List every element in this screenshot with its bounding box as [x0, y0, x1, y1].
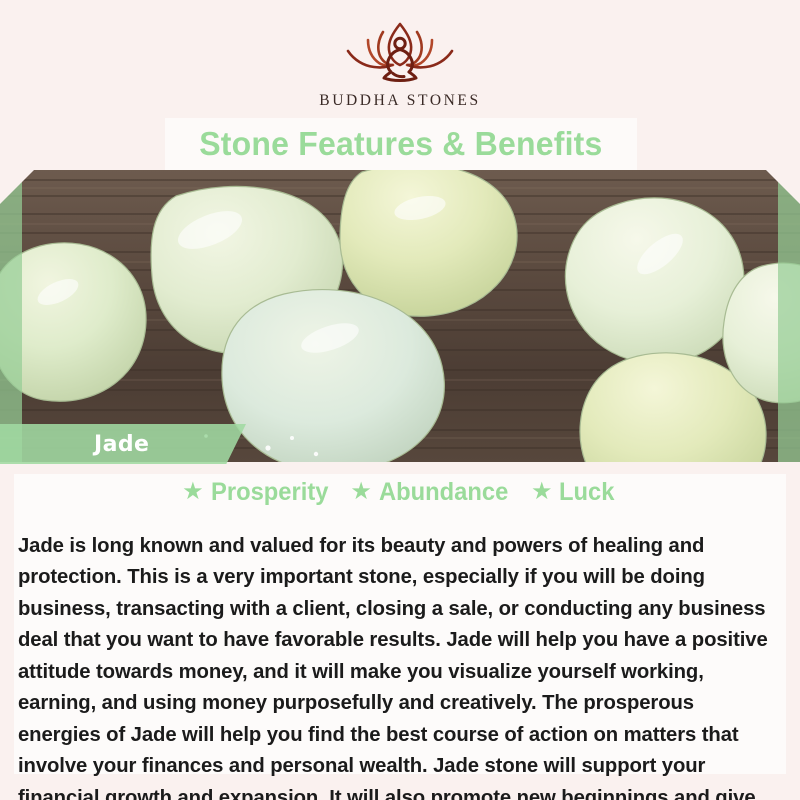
accent-band-right	[778, 170, 800, 462]
title-banner: Stone Features & Benefits	[165, 118, 637, 170]
benefit-label: Prosperity	[211, 478, 328, 507]
benefit-label: Abundance	[379, 478, 508, 507]
lotus-meditation-icon	[338, 20, 462, 86]
accent-band-left	[0, 170, 22, 462]
page-title: Stone Features & Benefits	[199, 125, 602, 163]
brand-name: BUDDHA STONES	[319, 92, 480, 110]
benefit-label: Luck	[559, 478, 614, 507]
benefit-item: ★ Prosperity	[182, 478, 334, 507]
star-icon: ★	[182, 480, 204, 504]
benefits-row: ★ Prosperity ★ Abundance ★ Luck	[0, 478, 800, 507]
star-icon: ★	[531, 480, 553, 504]
benefit-item: ★ Abundance	[350, 478, 515, 507]
stone-name: Jade	[94, 432, 149, 457]
star-icon: ★	[350, 480, 372, 504]
benefit-item: ★ Luck	[531, 478, 618, 507]
hero-photo	[0, 170, 800, 462]
stone-description: Jade is long known and valued for its be…	[18, 530, 773, 800]
content-panel: ★ Prosperity ★ Abundance ★ Luck Jade is …	[0, 462, 800, 800]
infographic-page: BUDDHA STONES Stone Features & Benefits	[0, 0, 800, 800]
stone-name-bar: Jade	[0, 424, 246, 464]
